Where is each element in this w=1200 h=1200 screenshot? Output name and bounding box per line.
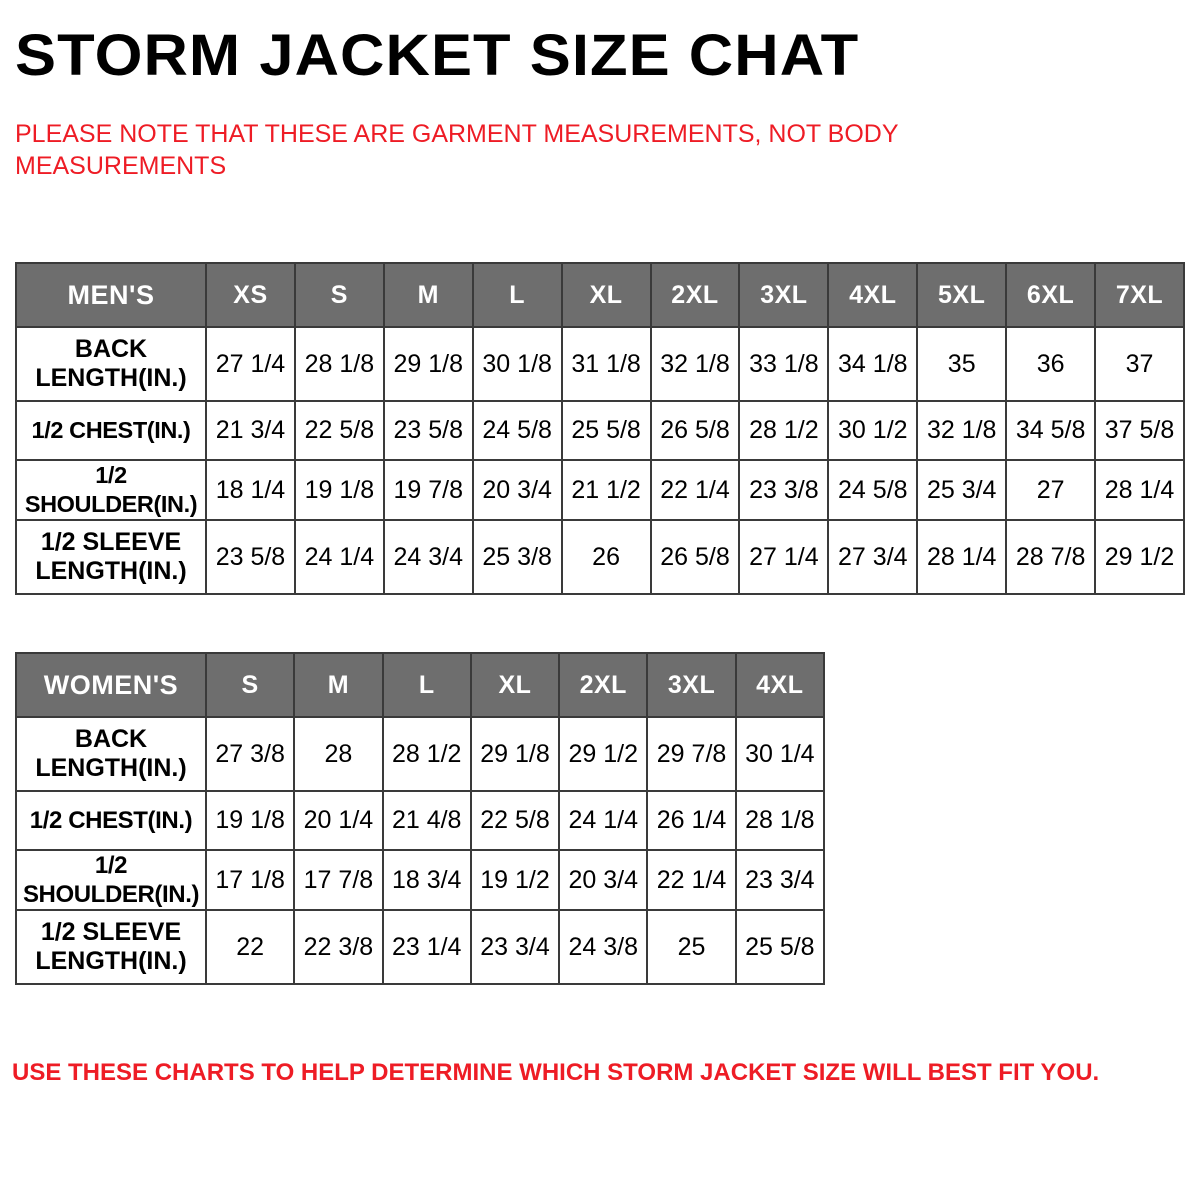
measurement-row-label: 1/2 SHOULDER(IN.)	[16, 460, 206, 520]
measurement-row-label: 1/2 SLEEVELENGTH(IN.)	[16, 910, 206, 984]
measurement-cell: 24 5/8	[473, 401, 562, 460]
measurement-cell: 22 1/4	[647, 850, 735, 910]
size-column-header: 4XL	[828, 263, 917, 327]
measurement-cell: 34 5/8	[1006, 401, 1095, 460]
table-row: 1/2 SLEEVELENGTH(IN.)23 5/824 1/424 3/42…	[16, 520, 1184, 594]
size-column-header: 2XL	[559, 653, 647, 717]
measurement-cell: 24 1/4	[295, 520, 384, 594]
size-column-header: M	[384, 263, 473, 327]
measurement-cell: 23 3/4	[736, 850, 824, 910]
womens-corner-header: WOMEN'S	[16, 653, 206, 717]
measurement-cell: 27 3/8	[206, 717, 294, 791]
measurement-cell: 27 3/4	[828, 520, 917, 594]
measurement-cell: 28 1/8	[295, 327, 384, 401]
measurement-cell: 28 1/2	[739, 401, 828, 460]
size-column-header: 3XL	[739, 263, 828, 327]
measurement-cell: 24 1/4	[559, 791, 647, 850]
measurement-cell: 23 3/8	[739, 460, 828, 520]
size-column-header: 6XL	[1006, 263, 1095, 327]
measurement-cell: 29 1/2	[559, 717, 647, 791]
table-header-row: MEN'SXSSMLXL2XL3XL4XL5XL6XL7XL	[16, 263, 1184, 327]
measurement-cell: 20 3/4	[473, 460, 562, 520]
size-column-header: 7XL	[1095, 263, 1184, 327]
womens-table-header: WOMEN'SSMLXL2XL3XL4XL	[16, 653, 824, 717]
measurement-cell: 27	[1006, 460, 1095, 520]
measurement-row-label: 1/2 SHOULDER(IN.)	[16, 850, 206, 910]
measurement-cell: 30 1/4	[736, 717, 824, 791]
measurement-cell: 25	[647, 910, 735, 984]
measurement-cell: 23 1/4	[383, 910, 471, 984]
measurement-cell: 19 1/8	[295, 460, 384, 520]
measurement-cell: 29 1/2	[1095, 520, 1184, 594]
measurement-row-label: 1/2 CHEST(IN.)	[16, 401, 206, 460]
measurement-cell: 18 3/4	[383, 850, 471, 910]
measurement-cell: 23 5/8	[384, 401, 473, 460]
measurement-cell: 21 1/2	[562, 460, 651, 520]
size-column-header: 4XL	[736, 653, 824, 717]
mens-corner-header: MEN'S	[16, 263, 206, 327]
measurement-cell: 28	[294, 717, 382, 791]
measurement-cell: 32 1/8	[917, 401, 1006, 460]
measurement-cell: 34 1/8	[828, 327, 917, 401]
measurement-cell: 36	[1006, 327, 1095, 401]
size-column-header: XS	[206, 263, 295, 327]
measurement-cell: 22 3/8	[294, 910, 382, 984]
fit-guidance-notice: USE THESE CHARTS TO HELP DETERMINE WHICH…	[12, 1058, 1132, 1088]
measurement-cell: 28 1/8	[736, 791, 824, 850]
measurement-cell: 28 1/4	[917, 520, 1006, 594]
measurement-cell: 28 1/2	[383, 717, 471, 791]
table-row: 1/2 CHEST(IN.)19 1/820 1/421 4/822 5/824…	[16, 791, 824, 850]
measurement-cell: 22 5/8	[471, 791, 559, 850]
measurement-cell: 18 1/4	[206, 460, 295, 520]
measurement-cell: 19 1/2	[471, 850, 559, 910]
measurement-cell: 29 1/8	[384, 327, 473, 401]
size-column-header: XL	[471, 653, 559, 717]
measurement-cell: 22 5/8	[295, 401, 384, 460]
measurement-cell: 25 5/8	[562, 401, 651, 460]
measurement-cell: 37 5/8	[1095, 401, 1184, 460]
table-row: BACKLENGTH(IN.)27 3/82828 1/229 1/829 1/…	[16, 717, 824, 791]
table-row: 1/2 SHOULDER(IN.)18 1/419 1/819 7/820 3/…	[16, 460, 1184, 520]
measurement-cell: 29 1/8	[471, 717, 559, 791]
size-column-header: L	[473, 263, 562, 327]
table-header-row: WOMEN'SSMLXL2XL3XL4XL	[16, 653, 824, 717]
measurement-cell: 33 1/8	[739, 327, 828, 401]
measurement-cell: 22 1/4	[651, 460, 740, 520]
page-title: STORM JACKET SIZE CHAT	[15, 24, 859, 88]
womens-size-table: WOMEN'SSMLXL2XL3XL4XL BACKLENGTH(IN.)27 …	[15, 652, 825, 985]
measurement-cell: 25 5/8	[736, 910, 824, 984]
measurement-row-label: BACKLENGTH(IN.)	[16, 717, 206, 791]
size-column-header: 5XL	[917, 263, 1006, 327]
table-row: 1/2 CHEST(IN.)21 3/422 5/823 5/824 5/825…	[16, 401, 1184, 460]
measurement-cell: 27 1/4	[739, 520, 828, 594]
measurement-cell: 25 3/8	[473, 520, 562, 594]
size-column-header: L	[383, 653, 471, 717]
measurement-row-label: 1/2 CHEST(IN.)	[16, 791, 206, 850]
measurement-cell: 27 1/4	[206, 327, 295, 401]
measurement-cell: 35	[917, 327, 1006, 401]
size-column-header: S	[206, 653, 294, 717]
measurement-cell: 28 7/8	[1006, 520, 1095, 594]
measurement-cell: 23 3/4	[471, 910, 559, 984]
measurement-cell: 19 7/8	[384, 460, 473, 520]
measurement-cell: 17 7/8	[294, 850, 382, 910]
size-column-header: XL	[562, 263, 651, 327]
size-column-header: M	[294, 653, 382, 717]
womens-table-body: BACKLENGTH(IN.)27 3/82828 1/229 1/829 1/…	[16, 717, 824, 984]
measurement-cell: 20 3/4	[559, 850, 647, 910]
mens-size-table: MEN'SXSSMLXL2XL3XL4XL5XL6XL7XL BACKLENGT…	[15, 262, 1185, 595]
measurement-cell: 21 4/8	[383, 791, 471, 850]
measurement-cell: 28 1/4	[1095, 460, 1184, 520]
garment-measurement-notice: PLEASE NOTE THAT THESE ARE GARMENT MEASU…	[15, 118, 975, 182]
table-row: 1/2 SLEEVELENGTH(IN.)2222 3/823 1/423 3/…	[16, 910, 824, 984]
measurement-cell: 24 5/8	[828, 460, 917, 520]
measurement-cell: 22	[206, 910, 294, 984]
measurement-cell: 23 5/8	[206, 520, 295, 594]
size-column-header: S	[295, 263, 384, 327]
measurement-row-label: BACKLENGTH(IN.)	[16, 327, 206, 401]
size-column-header: 3XL	[647, 653, 735, 717]
measurement-cell: 21 3/4	[206, 401, 295, 460]
measurement-cell: 29 7/8	[647, 717, 735, 791]
measurement-cell: 17 1/8	[206, 850, 294, 910]
measurement-cell: 30 1/8	[473, 327, 562, 401]
measurement-cell: 26 1/4	[647, 791, 735, 850]
mens-table-body: BACKLENGTH(IN.)27 1/428 1/829 1/830 1/83…	[16, 327, 1184, 594]
measurement-cell: 24 3/8	[559, 910, 647, 984]
measurement-cell: 30 1/2	[828, 401, 917, 460]
measurement-cell: 26 5/8	[651, 520, 740, 594]
mens-table-header: MEN'SXSSMLXL2XL3XL4XL5XL6XL7XL	[16, 263, 1184, 327]
measurement-cell: 26 5/8	[651, 401, 740, 460]
measurement-cell: 31 1/8	[562, 327, 651, 401]
measurement-cell: 19 1/8	[206, 791, 294, 850]
size-column-header: 2XL	[651, 263, 740, 327]
table-row: BACKLENGTH(IN.)27 1/428 1/829 1/830 1/83…	[16, 327, 1184, 401]
measurement-cell: 20 1/4	[294, 791, 382, 850]
table-row: 1/2 SHOULDER(IN.)17 1/817 7/818 3/419 1/…	[16, 850, 824, 910]
measurement-cell: 24 3/4	[384, 520, 473, 594]
measurement-cell: 26	[562, 520, 651, 594]
measurement-cell: 37	[1095, 327, 1184, 401]
measurement-cell: 32 1/8	[651, 327, 740, 401]
measurement-row-label: 1/2 SLEEVELENGTH(IN.)	[16, 520, 206, 594]
measurement-cell: 25 3/4	[917, 460, 1006, 520]
